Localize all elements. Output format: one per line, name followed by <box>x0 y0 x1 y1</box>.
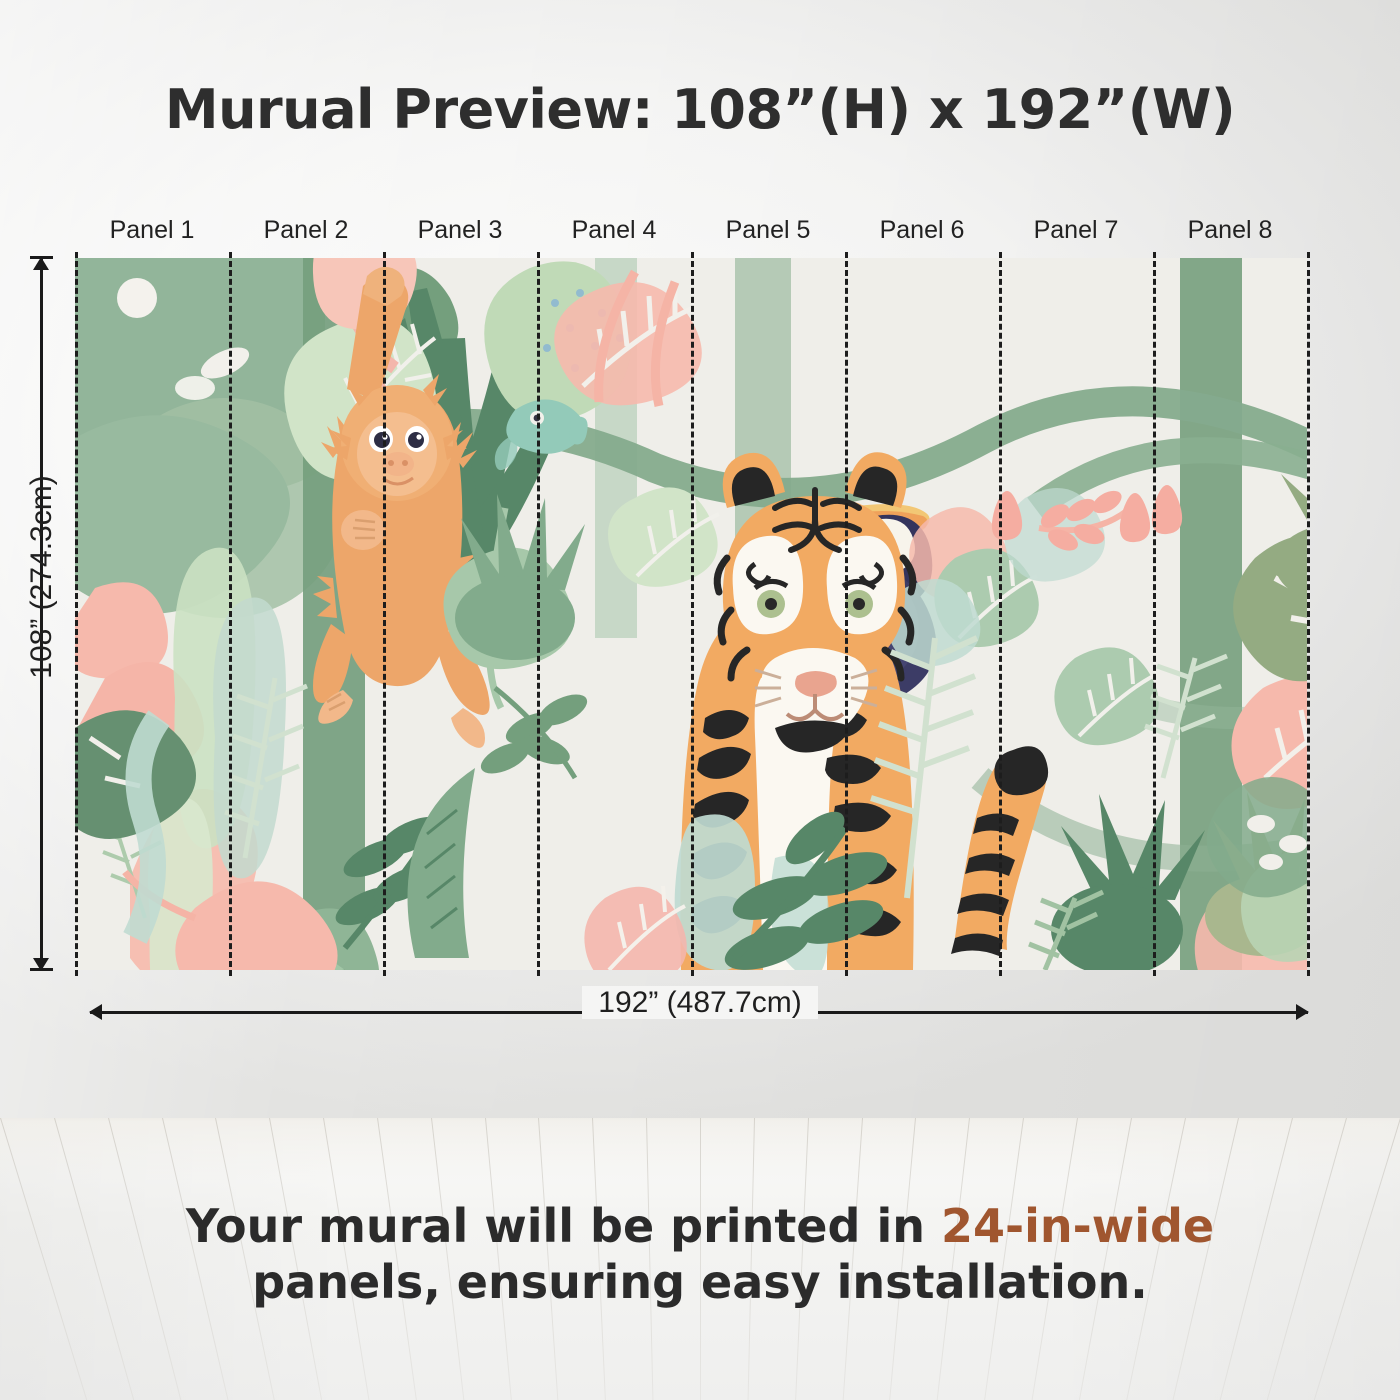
width-dimension-text: 192” (487.7cm) <box>582 986 817 1019</box>
panel-label-3: Panel 3 <box>383 216 537 245</box>
panel-divider-6 <box>999 252 1002 976</box>
caption-line2: panels, ensuring easy installation. <box>252 1255 1147 1309</box>
panel-label-8: Panel 8 <box>1153 216 1307 245</box>
caption: Your mural will be printed in 24-in-wide… <box>0 1198 1400 1310</box>
panel-divider-0 <box>75 252 78 976</box>
panel-label-4: Panel 4 <box>537 216 691 245</box>
height-dimension-label: 108” (274.3cm) <box>25 417 59 737</box>
panel-divider-8 <box>1307 252 1310 976</box>
panel-divider-3 <box>537 252 540 976</box>
height-tick-bottom <box>30 968 53 971</box>
caption-accent-panel-width: 24-in-wide <box>941 1199 1214 1253</box>
panel-divider-4 <box>691 252 694 976</box>
panel-divider-2 <box>383 252 386 976</box>
panel-divider-7 <box>1153 252 1156 976</box>
panel-label-5: Panel 5 <box>691 216 845 245</box>
panel-label-6: Panel 6 <box>845 216 999 245</box>
panel-label-2: Panel 2 <box>229 216 383 245</box>
panel-divider-5 <box>845 252 848 976</box>
panel-label-1: Panel 1 <box>75 216 229 245</box>
caption-line1-prefix: Your mural will be printed in <box>186 1199 941 1253</box>
panel-label-7: Panel 7 <box>999 216 1153 245</box>
width-dimension-label: 192” (487.7cm) <box>0 986 1400 1020</box>
height-tick-top <box>30 256 53 259</box>
panel-divider-1 <box>229 252 232 976</box>
page-title: Murual Preview: 108”(H) x 192”(W) <box>0 78 1400 141</box>
